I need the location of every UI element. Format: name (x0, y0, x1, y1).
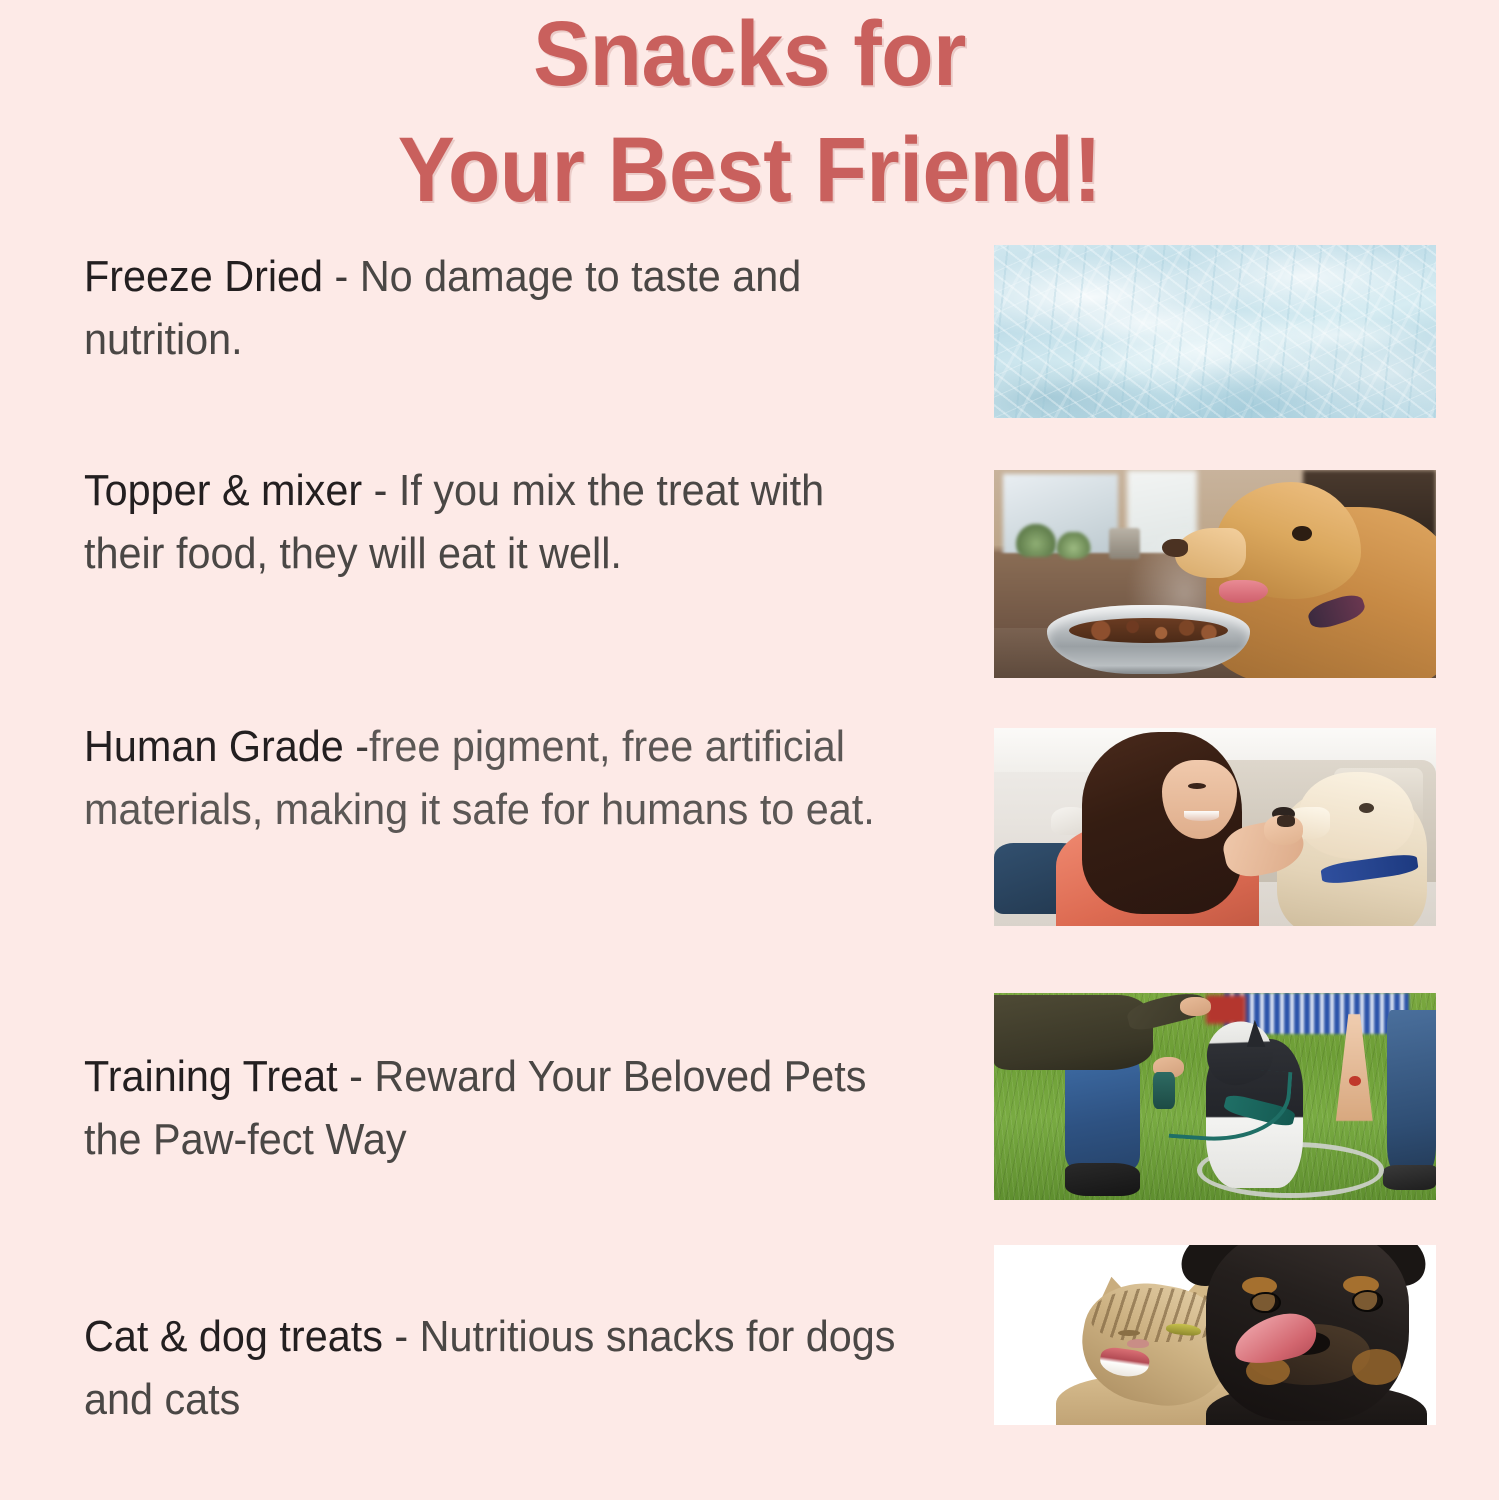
feature-term: Cat & dog treats (84, 1312, 383, 1361)
cat-nose-shape (1127, 1339, 1149, 1348)
bystander-shoe-shape (1383, 1165, 1436, 1190)
park-scene-illustration (994, 993, 1436, 1200)
feature-item-training-treat: Training Treat - Reward Your Beloved Pet… (84, 1046, 964, 1172)
feature-separator: - (362, 466, 399, 515)
feature-term: Training Treat (84, 1052, 338, 1101)
dog-eye-shape (1292, 526, 1312, 541)
cat-stripes-texture (1091, 1288, 1224, 1342)
treat-shape (1277, 815, 1295, 827)
feature-item-topper-mixer: Topper & mixer - If you mix the treat wi… (84, 460, 964, 586)
feature-term: Freeze Dried (84, 252, 323, 301)
plant-shape-secondary (1056, 532, 1091, 559)
infographic-page: Snacks for Your Best Friend! Freeze Drie… (0, 0, 1499, 1500)
photo-column (994, 0, 1436, 1500)
feature-separator: - (344, 722, 369, 771)
feature-item-cat-dog-treats: Cat & dog treats - Nutritious snacks for… (84, 1306, 964, 1432)
cat-eye-closed-shape (1118, 1330, 1140, 1336)
cone-marker-shape (1349, 1076, 1360, 1086)
feature-term: Topper & mixer (84, 466, 362, 515)
dog-food-shape (1069, 618, 1228, 643)
feature-separator: - (338, 1052, 375, 1101)
living-room-scene-illustration (994, 728, 1436, 926)
bystander-legs-shape (1387, 1010, 1436, 1171)
feature-separator: - (383, 1312, 420, 1361)
photo-golden-retriever-with-food-bowl (994, 470, 1436, 678)
dog-tan-marking-right (1352, 1349, 1401, 1385)
clicker-shape (1153, 1072, 1175, 1109)
dog-nose-shape (1162, 539, 1189, 558)
plant-shape (1016, 524, 1056, 557)
trainer-hand-shape (1180, 997, 1211, 1016)
feature-separator: - (323, 252, 360, 301)
feature-item-human-grade: Human Grade -free pigment, free artifici… (84, 716, 964, 842)
dog-eye-right-shape (1352, 1290, 1383, 1312)
red-backdrop-shape (1206, 995, 1246, 1024)
trainer-boot-shape (1065, 1163, 1140, 1196)
feature-item-freeze-dried: Freeze Dried - No damage to taste and nu… (84, 246, 964, 372)
cat-dog-scene-illustration (994, 1245, 1436, 1425)
photo-dog-training-on-grass (994, 993, 1436, 1200)
trainer-jacket-shape (994, 995, 1153, 1070)
photo-cat-and-dog-together (994, 1245, 1436, 1425)
photo-frozen-ice-texture (994, 245, 1436, 418)
ice-texture-illustration (994, 245, 1436, 418)
photo-woman-feeding-treat-to-dog (994, 728, 1436, 926)
feature-term: Human Grade (84, 722, 344, 771)
kitchen-scene-illustration (994, 470, 1436, 678)
